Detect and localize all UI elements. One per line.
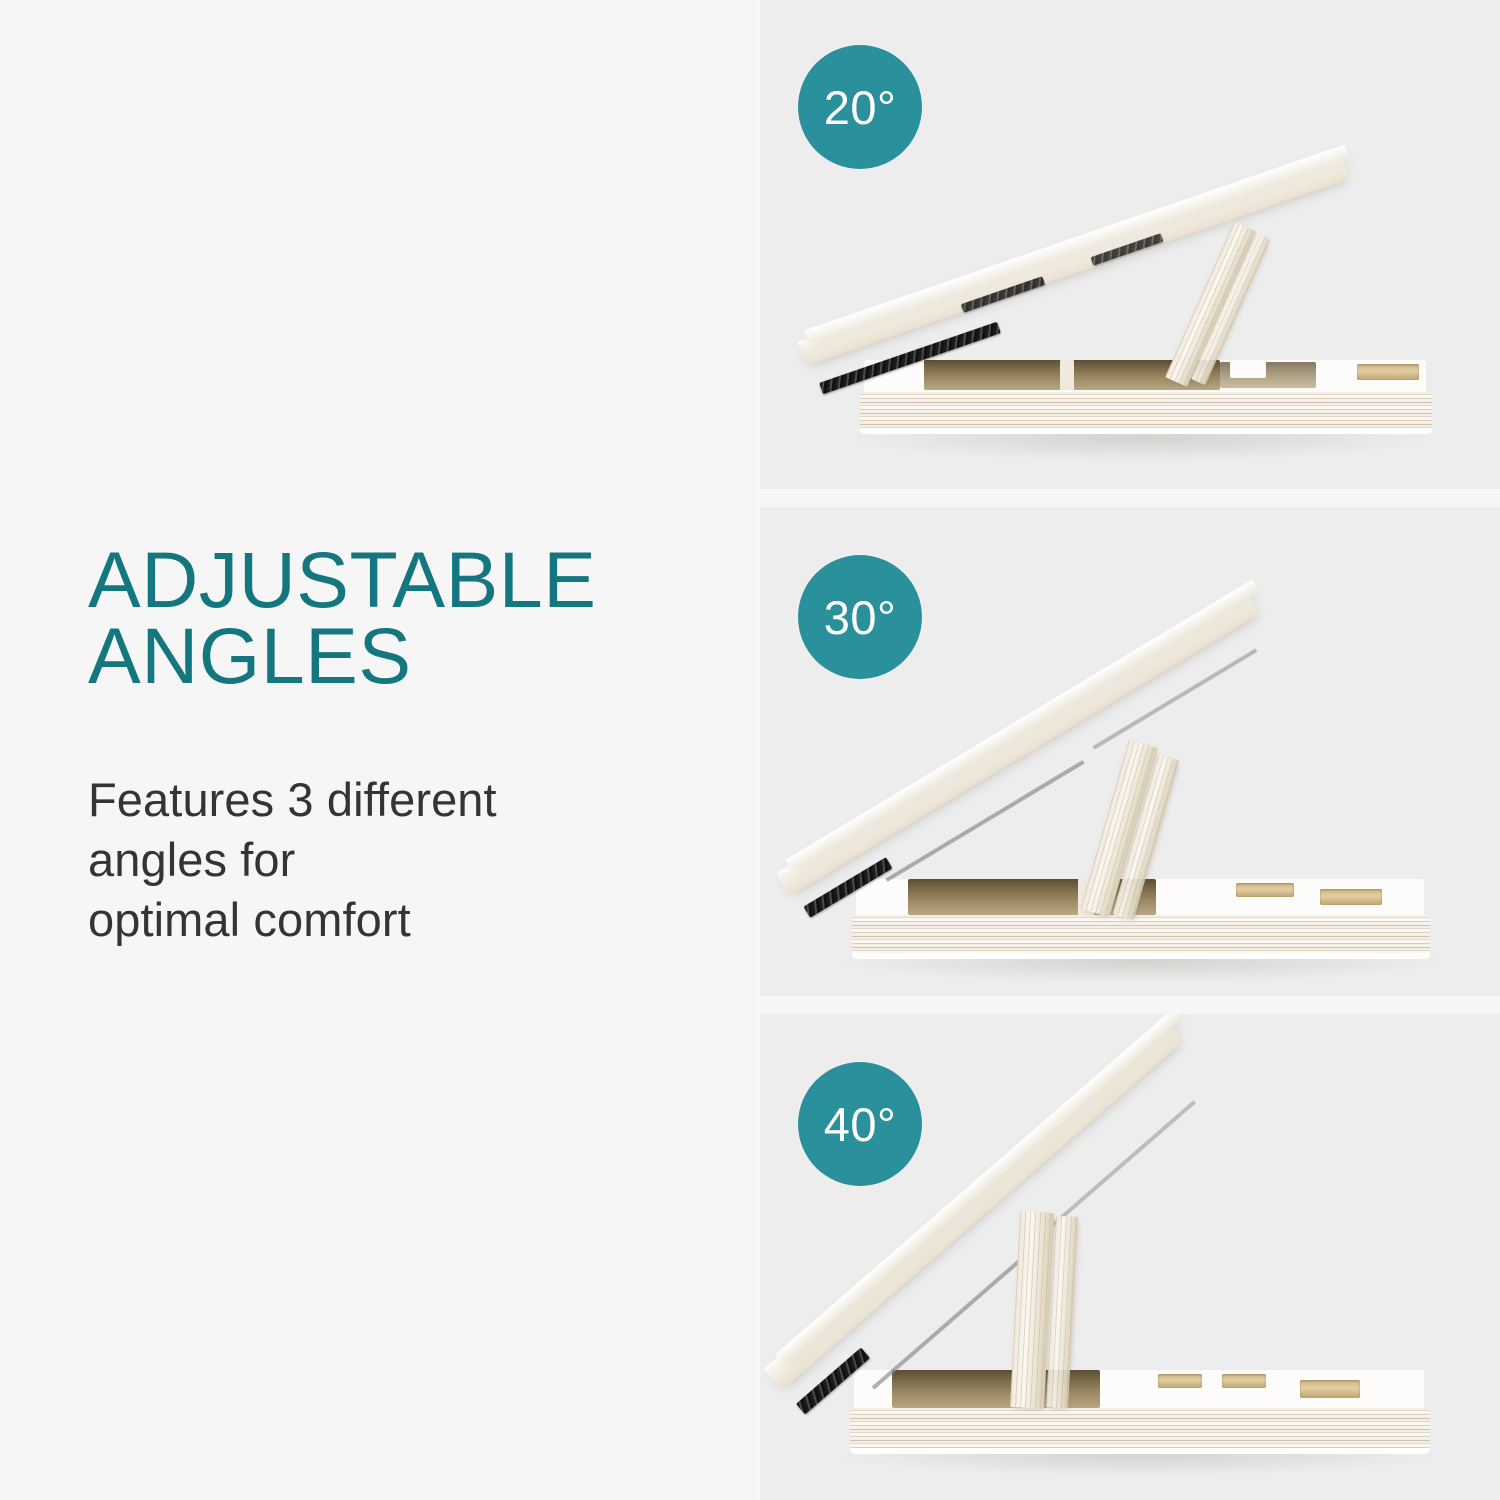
base-bottom-edge: [852, 953, 1430, 959]
product-panel-20: 20°: [760, 0, 1500, 489]
text-column: ADJUSTABLE ANGLES Features 3 different a…: [0, 0, 756, 1500]
panel-divider: [760, 489, 1500, 507]
angle-notch-slot: [1236, 883, 1294, 897]
base-plywood-edge: [850, 1408, 1430, 1450]
angle-notch-slot: [1300, 1380, 1360, 1398]
panel-divider: [760, 996, 1500, 1014]
page-subtitle: Features 3 different angles for optimal …: [88, 770, 688, 950]
board-face: [798, 154, 1350, 366]
base-bottom-edge: [850, 1448, 1430, 1454]
base-bottom-edge: [860, 428, 1432, 434]
angle-badge-label: 30°: [824, 590, 897, 645]
notch-divider: [1230, 360, 1266, 378]
cavity-lip: [1060, 360, 1074, 390]
page-title: ADJUSTABLE ANGLES: [88, 542, 728, 694]
base-plywood-edge: [860, 392, 1432, 430]
product-panel-30: 30°: [760, 507, 1500, 996]
angle-badge-30: 30°: [798, 555, 922, 679]
angle-notch-slot: [1158, 1374, 1202, 1388]
angle-badge-20: 20°: [798, 45, 922, 169]
angle-badge-label: 40°: [824, 1097, 897, 1152]
infographic-page: ADJUSTABLE ANGLES Features 3 different a…: [0, 0, 1500, 1500]
angle-badge-label: 20°: [824, 80, 897, 135]
product-panel-40: 40°: [760, 1014, 1500, 1500]
base-plywood-edge: [852, 915, 1430, 955]
tilted-top-board: [798, 154, 1350, 366]
angle-notch-slot: [1357, 364, 1419, 380]
angle-notch-slot: [1320, 889, 1382, 905]
angle-badge-40: 40°: [798, 1062, 922, 1186]
angle-notch-slot: [1222, 1374, 1266, 1388]
